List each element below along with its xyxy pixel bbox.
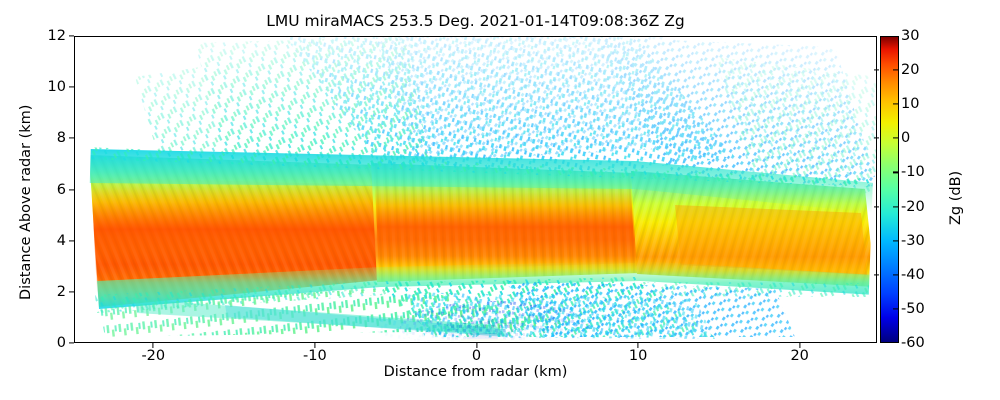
y-tick-mark: [69, 291, 74, 292]
colorbar-tick-label: 10: [901, 96, 919, 112]
y-tick-mark: [69, 87, 74, 88]
colorbar-tick-mark: [893, 104, 898, 105]
plot-area: [74, 36, 877, 343]
colorbar-tick-mark: [893, 206, 898, 207]
colorbar-tick-mark: [893, 138, 898, 139]
y-tick-label: 2: [57, 284, 66, 300]
colorbar-tick-label: -50: [901, 301, 925, 317]
y-tick-mark: [69, 35, 74, 36]
colorbar-tick-mark: [874, 138, 879, 139]
data-canvas: [75, 37, 876, 342]
x-tick-label: 0: [472, 348, 481, 364]
y-tick-mark: [69, 138, 74, 139]
x-tick-mark: [476, 343, 477, 348]
colorbar-tick-label: -60: [901, 335, 925, 351]
radar-rhi-figure: LMU miraMACS 253.5 Deg. 2021-01-14T09:08…: [0, 0, 1000, 400]
x-tick-mark: [638, 343, 639, 348]
y-axis-label: Distance Above radar (km): [18, 105, 34, 300]
colorbar-tick-label: 0: [901, 130, 910, 146]
y-tick-label: 12: [48, 28, 66, 44]
colorbar-tick-mark: [874, 70, 879, 71]
colorbar-tick-label: 20: [901, 62, 919, 78]
y-tick-mark: [69, 189, 74, 190]
y-tick-mark: [69, 342, 74, 343]
colorbar-tick-mark: [874, 206, 879, 207]
y-tick-label: 8: [57, 130, 66, 146]
x-tick-mark: [799, 343, 800, 348]
x-tick-mark: [153, 343, 154, 348]
y-tick-label: 4: [57, 233, 66, 249]
x-tick-label: -20: [141, 348, 165, 364]
radar-reflectivity-image: [75, 37, 876, 342]
colorbar-tick-mark: [893, 274, 898, 275]
x-tick-mark: [314, 343, 315, 348]
x-tick-label: 10: [629, 348, 647, 364]
colorbar-tick-mark: [893, 70, 898, 71]
colorbar-tick-mark: [874, 274, 879, 275]
colorbar-tick-label: 30: [901, 28, 919, 44]
colorbar-gradient: [880, 36, 899, 343]
y-tick-label: 6: [57, 182, 66, 198]
y-tick-mark: [69, 240, 74, 241]
colorbar-label: Zg (dB): [948, 171, 964, 225]
x-tick-label: 20: [790, 348, 808, 364]
y-tick-label: 10: [48, 79, 66, 95]
colorbar-tick-mark: [893, 308, 898, 309]
x-tick-label: -10: [303, 348, 327, 364]
colorbar-tick-label: -20: [901, 199, 925, 215]
x-axis-label: Distance from radar (km): [74, 364, 877, 380]
y-tick-label: 0: [57, 335, 66, 351]
colorbar-tick-mark: [893, 240, 898, 241]
colorbar-tick-label: -10: [901, 164, 925, 180]
colorbar-tick-mark: [893, 172, 898, 173]
colorbar-tick-label: -40: [901, 267, 925, 283]
colorbar-tick-label: -30: [901, 233, 925, 249]
chart-title: LMU miraMACS 253.5 Deg. 2021-01-14T09:08…: [74, 12, 877, 30]
